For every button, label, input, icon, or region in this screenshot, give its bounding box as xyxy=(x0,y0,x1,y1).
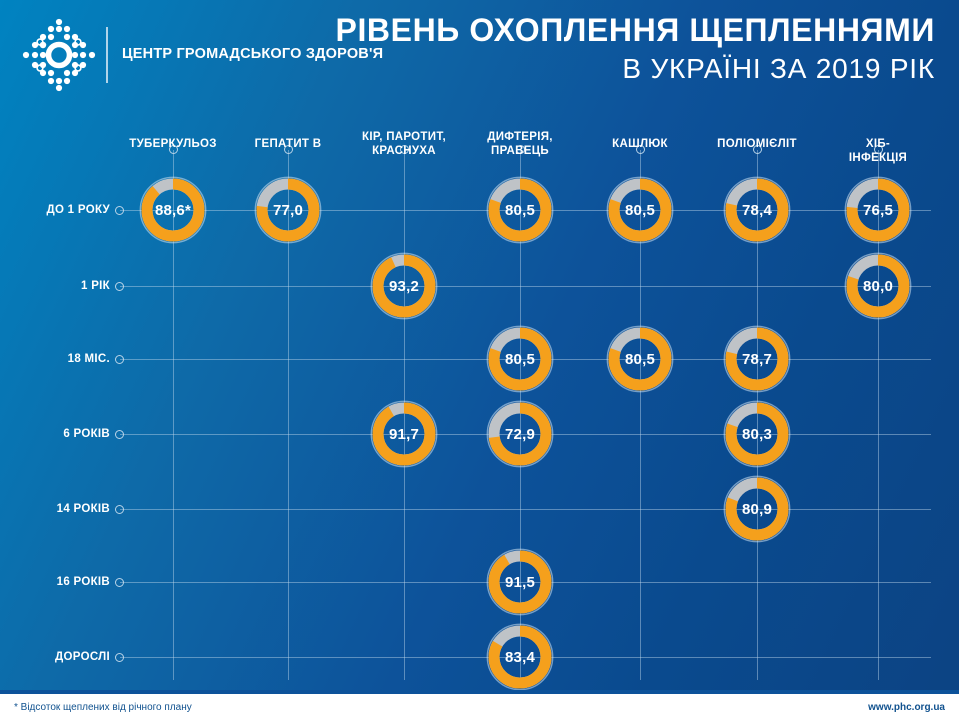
donut-value-label: 80,9 xyxy=(721,473,793,545)
donut-value-label: 80,5 xyxy=(484,174,556,246)
column-header-1: ГЕПАТИТ В xyxy=(255,137,322,151)
column-header-6: ХІБ-ІНФЕКЦІЯ xyxy=(838,137,919,165)
row-label-1: 1 РІК xyxy=(81,280,110,292)
donut-value-label: 91,5 xyxy=(484,546,556,618)
donut-chart: 80,5 xyxy=(604,174,676,246)
donut-chart: 80,9 xyxy=(721,473,793,545)
donut-chart: 80,5 xyxy=(484,323,556,395)
donut-chart: 88,6* xyxy=(137,174,209,246)
donut-value-label: 83,4 xyxy=(484,621,556,693)
donut-chart: 91,7 xyxy=(368,398,440,470)
page-title: РІВЕНЬ ОХОПЛЕННЯ ЩЕПЛЕННЯМИ xyxy=(336,14,936,48)
column-header-4: КАШЛЮК xyxy=(612,137,668,151)
row-axis-marker xyxy=(115,282,124,291)
column-header-2: КІР, ПАРОТИТ, КРАСНУХА xyxy=(362,130,446,158)
row-axis-marker xyxy=(115,206,124,215)
donut-value-label: 77,0 xyxy=(252,174,324,246)
donut-value-label: 88,6* xyxy=(137,174,209,246)
row-axis-marker xyxy=(115,578,124,587)
donut-value-label: 80,5 xyxy=(604,323,676,395)
donut-value-label: 93,2 xyxy=(368,250,440,322)
footer-url[interactable]: www.phc.org.ua xyxy=(868,702,945,713)
grid-line-horizontal xyxy=(120,509,931,510)
title-block: РІВЕНЬ ОХОПЛЕННЯ ЩЕПЛЕННЯМИ В УКРАЇНІ ЗА… xyxy=(336,14,936,84)
donut-chart: 83,4 xyxy=(484,621,556,693)
donut-chart: 80,0 xyxy=(842,250,914,322)
donut-chart: 76,5 xyxy=(842,174,914,246)
column-header-0: ТУБЕРКУЛЬОЗ xyxy=(129,137,216,151)
donut-chart: 91,5 xyxy=(484,546,556,618)
column-header-3: ДИФТЕРІЯ, ПРАВЕЦЬ xyxy=(487,130,553,158)
chart-grid: ТУБЕРКУЛЬОЗГЕПАТИТ ВКІР, ПАРОТИТ, КРАСНУ… xyxy=(0,105,959,690)
logo: ЦЕНТР ГРОМАДСЬКОГО ЗДОРОВ'Я xyxy=(18,14,383,96)
row-label-3: 6 РОКІВ xyxy=(63,428,110,440)
row-label-0: ДО 1 РОКУ xyxy=(46,204,110,216)
donut-chart: 77,0 xyxy=(252,174,324,246)
row-axis-marker xyxy=(115,355,124,364)
footnote: * Відсоток щеплених від річного плану xyxy=(14,702,192,713)
donut-value-label: 80,0 xyxy=(842,250,914,322)
logo-divider xyxy=(106,27,108,83)
column-header-5: ПОЛІОМІЄЛІТ xyxy=(717,137,797,151)
donut-chart: 78,4 xyxy=(721,174,793,246)
page-subtitle: В УКРАЇНІ ЗА 2019 РІК xyxy=(336,53,936,84)
donut-value-label: 80,3 xyxy=(721,398,793,470)
donut-value-label: 80,5 xyxy=(484,323,556,395)
donut-chart: 80,3 xyxy=(721,398,793,470)
footer: * Відсоток щеплених від річного плану ww… xyxy=(0,690,959,720)
donut-chart: 80,5 xyxy=(484,174,556,246)
row-axis-marker xyxy=(115,430,124,439)
grid-line-horizontal xyxy=(120,286,931,287)
donut-value-label: 91,7 xyxy=(368,398,440,470)
row-axis-marker xyxy=(115,653,124,662)
donut-value-label: 80,5 xyxy=(604,174,676,246)
donut-value-label: 78,7 xyxy=(721,323,793,395)
row-axis-marker xyxy=(115,505,124,514)
donut-value-label: 72,9 xyxy=(484,398,556,470)
donut-chart: 93,2 xyxy=(368,250,440,322)
infographic-page: ЦЕНТР ГРОМАДСЬКОГО ЗДОРОВ'Я РІВЕНЬ ОХОПЛ… xyxy=(0,0,959,720)
header: ЦЕНТР ГРОМАДСЬКОГО ЗДОРОВ'Я РІВЕНЬ ОХОПЛ… xyxy=(0,0,959,105)
row-label-5: 16 РОКІВ xyxy=(57,576,110,588)
row-label-6: ДОРОСЛІ xyxy=(55,651,110,663)
row-label-4: 14 РОКІВ xyxy=(57,503,110,515)
donut-chart: 72,9 xyxy=(484,398,556,470)
phc-dots-logo-icon xyxy=(18,14,100,96)
donut-chart: 80,5 xyxy=(604,323,676,395)
donut-chart: 78,7 xyxy=(721,323,793,395)
donut-value-label: 78,4 xyxy=(721,174,793,246)
row-label-2: 18 МІС. xyxy=(68,353,110,365)
donut-value-label: 76,5 xyxy=(842,174,914,246)
